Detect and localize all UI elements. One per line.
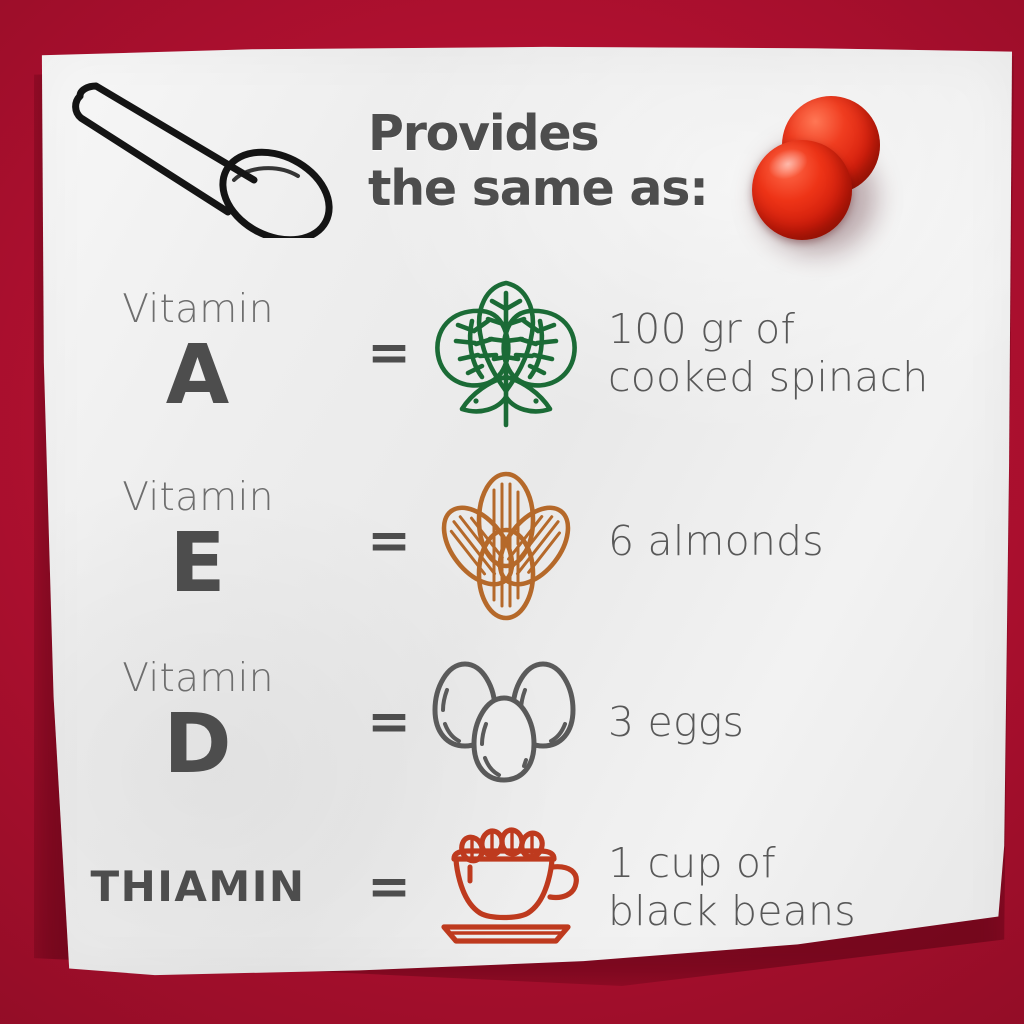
vitamin-word: Vitamin xyxy=(122,290,274,329)
spinach-icon xyxy=(422,273,590,433)
row-vitamin-e: Vitamin E = xyxy=(38,456,1012,626)
label-vitamin-d: Vitamin D xyxy=(38,659,358,786)
eggs-icon xyxy=(425,656,587,788)
row-thiamin: THIAMIN = xyxy=(38,822,1012,952)
thiamin-label: THIAMIN xyxy=(90,866,305,908)
description-thiamin: 1 cup of black beans xyxy=(592,839,1012,936)
title-line-2: the same as: xyxy=(368,161,788,216)
equals-sign: = xyxy=(358,327,420,379)
desc-line-1: 1 cup of xyxy=(608,839,1012,887)
vitamin-word: Vitamin xyxy=(122,478,274,517)
spoon-icon xyxy=(58,68,358,238)
eggs-icon-cell xyxy=(420,656,592,788)
label-vitamin-a: Vitamin A xyxy=(38,290,358,417)
equals-sign: = xyxy=(358,696,420,748)
desc-line-2: cooked spinach xyxy=(608,353,1012,401)
vitamin-letter: A xyxy=(166,335,230,417)
description-vitamin-d: 3 eggs xyxy=(592,698,1012,746)
row-vitamin-a: Vitamin A = xyxy=(38,268,1012,438)
almonds-icon-cell xyxy=(420,460,592,622)
desc-line-1: 6 almonds xyxy=(608,517,1012,565)
vitamin-letter: D xyxy=(163,704,232,786)
coffee-cup-beans-icon xyxy=(426,827,586,947)
infographic-canvas: Provides the same as: Vitamin A = xyxy=(0,0,1024,1024)
desc-line-2: black beans xyxy=(608,887,1012,935)
description-vitamin-a: 100 gr of cooked spinach xyxy=(592,305,1012,402)
row-vitamin-d: Vitamin D = xyxy=(38,642,1012,802)
equals-sign: = xyxy=(358,861,420,913)
desc-line-1: 3 eggs xyxy=(608,698,1012,746)
vitamin-letter: E xyxy=(169,523,226,605)
coffee-cup-beans-icon-cell xyxy=(420,827,592,947)
vitamin-word: Vitamin xyxy=(122,659,274,698)
desc-line-1: 100 gr of xyxy=(608,305,1012,353)
page-title: Provides the same as: xyxy=(368,106,788,217)
title-line-1: Provides xyxy=(368,106,788,161)
pushpin-icon xyxy=(752,96,892,241)
label-thiamin: THIAMIN xyxy=(38,866,358,908)
almonds-icon xyxy=(426,460,586,622)
equals-sign: = xyxy=(358,515,420,567)
label-vitamin-e: Vitamin E xyxy=(38,478,358,605)
description-vitamin-e: 6 almonds xyxy=(592,517,1012,565)
spinach-icon-cell xyxy=(420,273,592,433)
